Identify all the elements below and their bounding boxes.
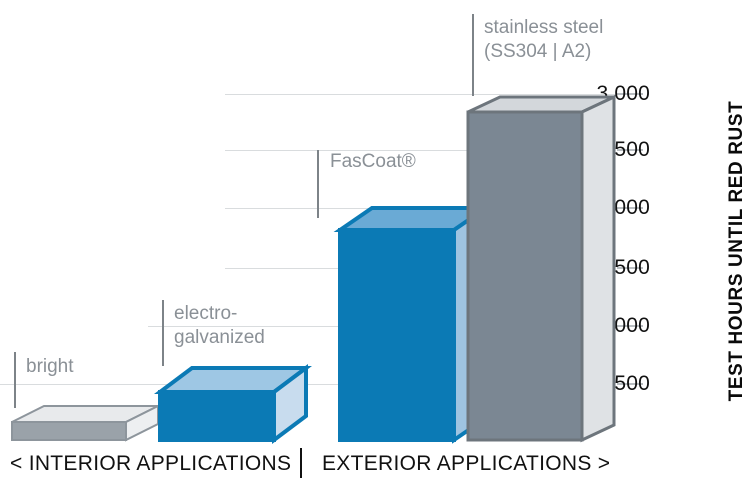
callout-stainless-steel-line1: stainless steel [484, 16, 603, 40]
callout-electro-galvanized: electro- galvanized [174, 302, 265, 350]
callout-fascoat-line1: FasCoat® [330, 150, 416, 174]
callout-electro-galvanized-line2: galvanized [174, 326, 265, 350]
bar-fascoat-front-face [340, 230, 454, 440]
bar-fascoat [340, 204, 486, 444]
bar-bright [12, 404, 158, 444]
caption-divider [300, 448, 302, 478]
callout-bright-line1: bright [26, 355, 74, 379]
callout-stainless-steel: stainless steel (SS304 | A2) [484, 16, 603, 64]
bar-electro-galvanized [160, 364, 306, 444]
bar-electro-galvanized-front-face [160, 392, 274, 440]
callout-stainless-steel-line2: (SS304 | A2) [484, 40, 603, 64]
leader-line-stainless-steel [472, 14, 474, 96]
y-axis-title: TEST HOURS UNTIL RED RUST [726, 101, 748, 402]
bar-bright-front-face [12, 422, 126, 440]
leader-line-fascoat [317, 150, 319, 218]
chart-canvas: 3 000 2 500 2 000 1 500 1 000 500 TEST H… [0, 0, 752, 502]
bar-stainless-steel [468, 94, 614, 444]
callout-electro-galvanized-line1: electro- [174, 302, 265, 326]
bar-stainless-steel-front-face [468, 112, 582, 440]
leader-line-electro-galvanized [162, 300, 164, 366]
callout-fascoat: FasCoat® [330, 150, 416, 174]
caption-interior: < INTERIOR APPLICATIONS [10, 452, 291, 476]
caption-exterior: EXTERIOR APPLICATIONS > [322, 452, 610, 476]
callout-bright: bright [26, 355, 74, 379]
leader-line-bright [14, 352, 16, 408]
bar-stainless-steel-side-face [582, 97, 614, 440]
